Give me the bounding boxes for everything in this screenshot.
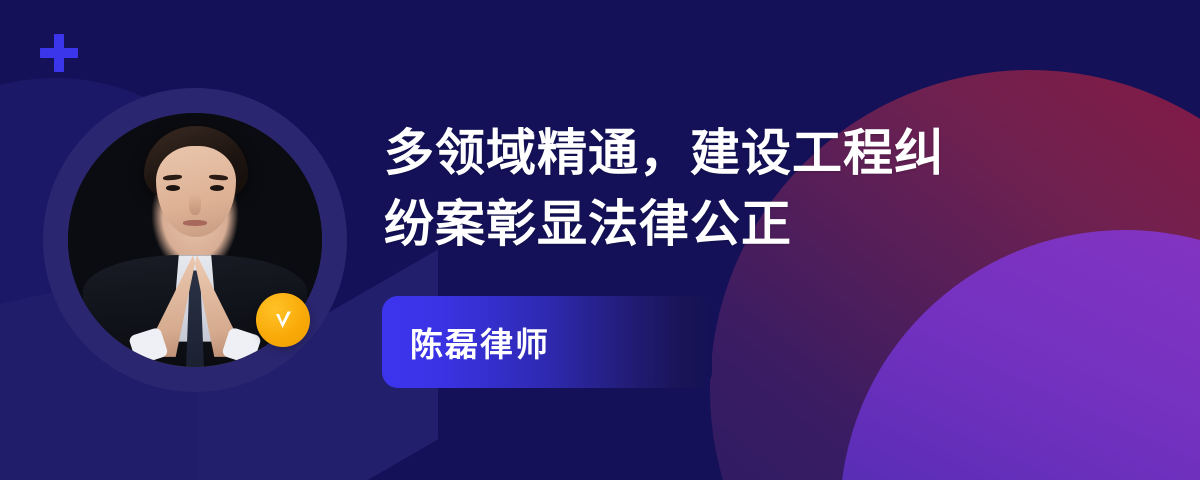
background-orb-violet	[840, 230, 1200, 480]
lawyer-name-label: 陈磊律师	[382, 318, 550, 366]
verified-badge-icon	[256, 293, 310, 347]
portrait-nose	[189, 193, 201, 215]
portrait-mouth	[183, 220, 207, 226]
avatar[interactable]	[43, 88, 347, 392]
lawyer-name-pill[interactable]: 陈磊律师	[382, 296, 712, 388]
lawyer-promo-banner: 多领域精通，建设工程纠 纷案彰显法律公正 陈磊律师	[0, 0, 1200, 480]
headline-text: 多领域精通，建设工程纠 纷案彰显法律公正	[384, 118, 1174, 260]
plus-icon-bar-vertical	[54, 34, 64, 72]
portrait-eye-left	[166, 185, 180, 191]
headline-block: 多领域精通，建设工程纠 纷案彰显法律公正	[384, 118, 1174, 260]
plus-icon	[40, 34, 78, 72]
